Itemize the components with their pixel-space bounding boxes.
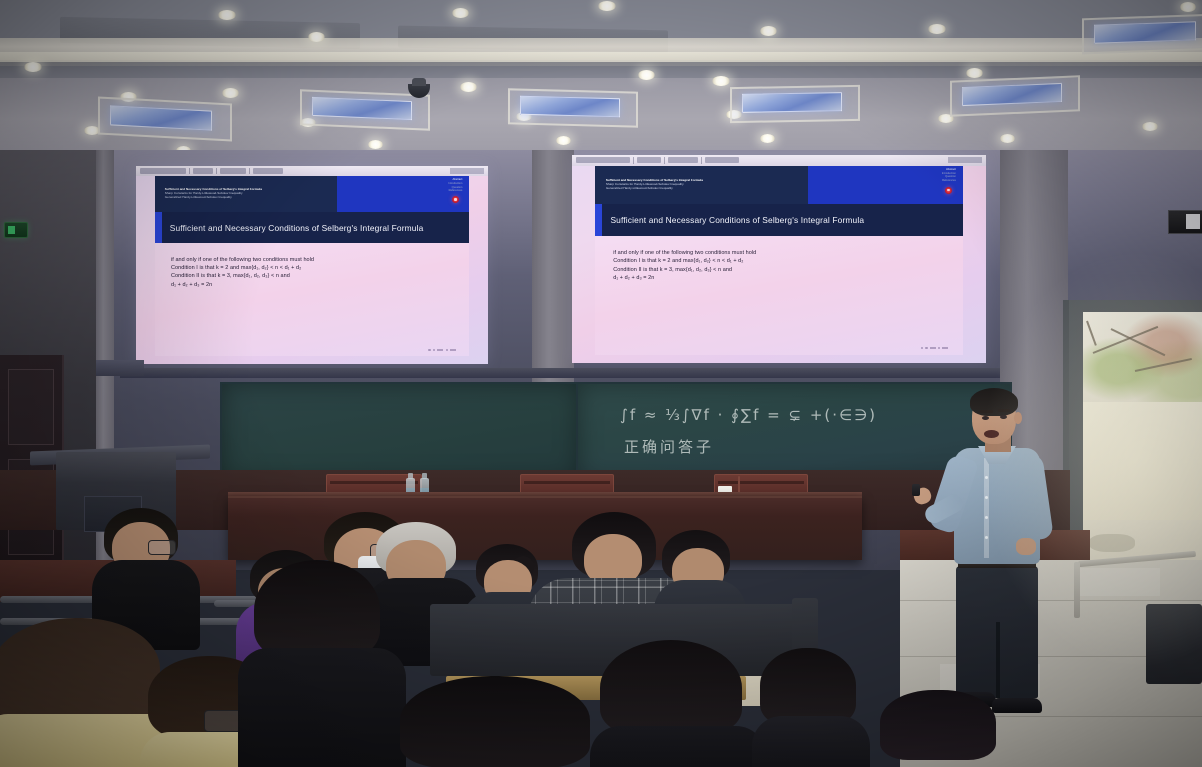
toolbar-separator xyxy=(633,157,634,163)
nav-bar-icon[interactable] xyxy=(450,349,456,351)
ceiling-downlight xyxy=(966,68,983,78)
nav-dot-icon[interactable] xyxy=(921,347,923,349)
nav-dot-icon[interactable] xyxy=(428,349,430,351)
presenter-clicker[interactable] xyxy=(912,484,920,496)
eyeglasses xyxy=(148,540,176,555)
ceiling-downlight xyxy=(1180,2,1196,12)
person-hair xyxy=(0,618,160,728)
audience-member xyxy=(600,640,750,767)
audience-member xyxy=(400,676,600,767)
lecturer-hair xyxy=(970,388,1018,416)
audience-member xyxy=(760,648,860,767)
pdf-viewer-toolbar[interactable] xyxy=(136,166,488,176)
lecturer xyxy=(930,392,1070,722)
shirt-button xyxy=(985,516,988,519)
tree-branch xyxy=(1093,326,1159,354)
beamer-outline-left: Sufficient and Necessary Conditions of S… xyxy=(155,176,337,212)
screen-ledge xyxy=(96,360,144,376)
slide-body-text: if and only if one of the following two … xyxy=(171,256,459,289)
ceiling-downlight xyxy=(638,70,655,80)
slide-left: Sufficient and Necessary Conditions of S… xyxy=(136,166,488,364)
ceiling-downlight xyxy=(928,24,946,34)
window-view-trees xyxy=(1083,312,1202,407)
projection-screen-left: Sufficient and Necessary Conditions of S… xyxy=(136,166,488,364)
nav-dot-icon[interactable] xyxy=(938,347,940,349)
toolbar-separator xyxy=(701,157,702,163)
slide-line: d₁ + d₂ + d₃ = 2n xyxy=(613,274,952,282)
audience-member xyxy=(254,560,384,767)
slide-right: Sufficient and Necessary Conditions of S… xyxy=(572,155,986,363)
corridor-wall xyxy=(1083,402,1202,522)
nav-bar-icon[interactable] xyxy=(942,347,948,349)
tree-branch xyxy=(1086,321,1097,346)
slide-title: Sufficient and Necessary Conditions of S… xyxy=(162,223,429,233)
outline-item[interactable]: References xyxy=(449,189,463,192)
toolbar-chip[interactable] xyxy=(576,157,630,163)
slide-line: Condition II is that k = 3, max{d₁, d₂, … xyxy=(171,272,459,280)
ceiling-downlight xyxy=(460,82,477,92)
lecturer-shirt-placket xyxy=(984,458,989,558)
exit-sign xyxy=(4,222,28,238)
lecturer-eyebrow xyxy=(980,410,993,413)
person-hair xyxy=(400,676,590,767)
chalk-chinese-text: 正确问答子 xyxy=(624,436,714,457)
outline-item[interactable]: References xyxy=(942,179,956,182)
room-number-sign xyxy=(1168,210,1202,234)
slide-line: if and only if one of the following two … xyxy=(171,256,459,264)
toolbar-separator xyxy=(664,157,665,163)
beamer-outline-right: Abstract Introduction Question Reference… xyxy=(942,168,956,182)
ceiling-downlight xyxy=(1142,122,1158,131)
lecturer-leg-gap xyxy=(996,622,1000,698)
nav-dot-icon[interactable] xyxy=(925,347,927,349)
person-torso xyxy=(752,716,870,767)
toolbar-chip-right[interactable] xyxy=(450,168,484,174)
slide-canvas: Sufficient and Necessary Conditions of S… xyxy=(155,176,468,356)
ceiling-downlight xyxy=(24,62,42,72)
beamer-navigation-header: Sufficient and Necessary Conditions of S… xyxy=(595,166,963,204)
lecturer-mouth xyxy=(984,430,999,438)
projection-screen-right: Sufficient and Necessary Conditions of S… xyxy=(572,155,986,363)
person-hair xyxy=(254,560,380,660)
person-torso xyxy=(590,726,766,767)
beamer-footer-nav[interactable] xyxy=(921,347,949,349)
outline-item[interactable]: Generalized Hardy-Littlewood-Sobolev Ine… xyxy=(165,196,337,200)
ceiling-panel-light xyxy=(520,96,620,118)
ceiling-downlight xyxy=(760,26,777,36)
floor-shadow xyxy=(1089,534,1135,552)
ceiling-panel-light xyxy=(742,92,842,113)
ceiling-downlight xyxy=(760,134,775,143)
person-torso xyxy=(238,648,406,767)
beamer-footer-nav[interactable] xyxy=(428,349,456,351)
ceiling-downlight xyxy=(712,76,730,86)
shirt-button xyxy=(985,536,988,539)
slide-canvas: Sufficient and Necessary Conditions of S… xyxy=(595,166,963,355)
toolbar-chip[interactable] xyxy=(668,157,698,163)
slide-title-bar: Sufficient and Necessary Conditions of S… xyxy=(155,212,468,243)
toolbar-chip[interactable] xyxy=(220,168,246,174)
tree-branch xyxy=(1135,358,1192,372)
toolbar-chip[interactable] xyxy=(193,168,213,174)
ceiling-downlight xyxy=(218,10,236,20)
lecturer-right-hand xyxy=(1016,538,1036,555)
handrail-post xyxy=(1074,562,1080,618)
shirt-button xyxy=(985,496,988,499)
ceiling-panel-light xyxy=(1094,21,1196,44)
slide-line: Condition II is that k = 3, max{d₁, d₂, … xyxy=(613,266,952,274)
blackboard-left xyxy=(220,382,580,482)
nav-bar-icon[interactable] xyxy=(930,347,936,349)
nav-bar-icon[interactable] xyxy=(437,349,443,351)
toolbar-separator xyxy=(216,168,217,174)
toolbar-chip[interactable] xyxy=(705,157,739,163)
audience-member xyxy=(96,508,188,628)
slide-line: if and only if one of the following two … xyxy=(613,249,952,257)
person-hair xyxy=(600,640,742,736)
slide-title: Sufficient and Necessary Conditions of S… xyxy=(602,215,872,225)
lecturer-eyebrow xyxy=(998,409,1010,412)
ceiling-downlight xyxy=(368,140,383,149)
chalk-equation: ∫f ≈ ⅓∫∇f · ∮∑f = ⊊ +(·∈∋) xyxy=(620,406,877,424)
slide-line: d₁ + d₂ + d₃ = 2n xyxy=(171,281,459,289)
toolbar-chip-right[interactable] xyxy=(948,157,982,163)
beamer-navigation-header: Sufficient and Necessary Conditions of S… xyxy=(155,176,468,212)
ceiling-downlight xyxy=(556,136,571,145)
lecturer-eye xyxy=(982,416,989,420)
ceiling-downlight xyxy=(1000,134,1015,143)
person-hair xyxy=(880,690,996,760)
beamer-outline-left: Sufficient and Necessary Conditions of S… xyxy=(595,166,809,204)
outline-item[interactable]: Generalized Hardy-Littlewood-Sobolev Ine… xyxy=(606,187,809,191)
slide-title-bar: Sufficient and Necessary Conditions of S… xyxy=(595,204,963,236)
nav-dot-icon[interactable] xyxy=(446,349,448,351)
slide-line: Condition I is that k = 2 and max{d₁, d₂… xyxy=(171,264,459,272)
audience-member xyxy=(880,690,1000,767)
screen-rail xyxy=(120,368,1000,378)
seat-back[interactable] xyxy=(1146,604,1202,684)
toolbar-chip[interactable] xyxy=(253,168,283,174)
lecturer-ear xyxy=(1014,412,1022,424)
slide-body-text: if and only if one of the following two … xyxy=(613,249,952,282)
floor-tile-highlight xyxy=(1080,568,1160,596)
shirt-button xyxy=(985,476,988,479)
toolbar-chip[interactable] xyxy=(637,157,661,163)
ceiling-downlight xyxy=(222,88,239,98)
toolbar-chip[interactable] xyxy=(140,168,186,174)
lecture-hall-photo: Sufficient and Necessary Conditions of S… xyxy=(0,0,1202,767)
person-hair xyxy=(760,648,856,726)
ceiling-downlight xyxy=(308,32,325,42)
ceiling-downlight xyxy=(452,8,469,18)
toolbar-separator xyxy=(189,168,190,174)
toolbar-separator xyxy=(249,168,250,174)
beamer-header-block xyxy=(808,166,963,204)
beamer-outline-right: Abstract Introduction Question Reference… xyxy=(448,178,462,192)
pdf-viewer-toolbar[interactable] xyxy=(572,155,986,166)
university-logo-icon xyxy=(945,187,952,194)
nav-dot-icon[interactable] xyxy=(433,349,435,351)
lecturer-eye xyxy=(1000,415,1007,419)
slide-line: Condition I is that k = 2 and max{d₁, d₂… xyxy=(613,257,952,265)
door-panel xyxy=(8,369,54,445)
ceiling-downlight xyxy=(598,1,616,11)
